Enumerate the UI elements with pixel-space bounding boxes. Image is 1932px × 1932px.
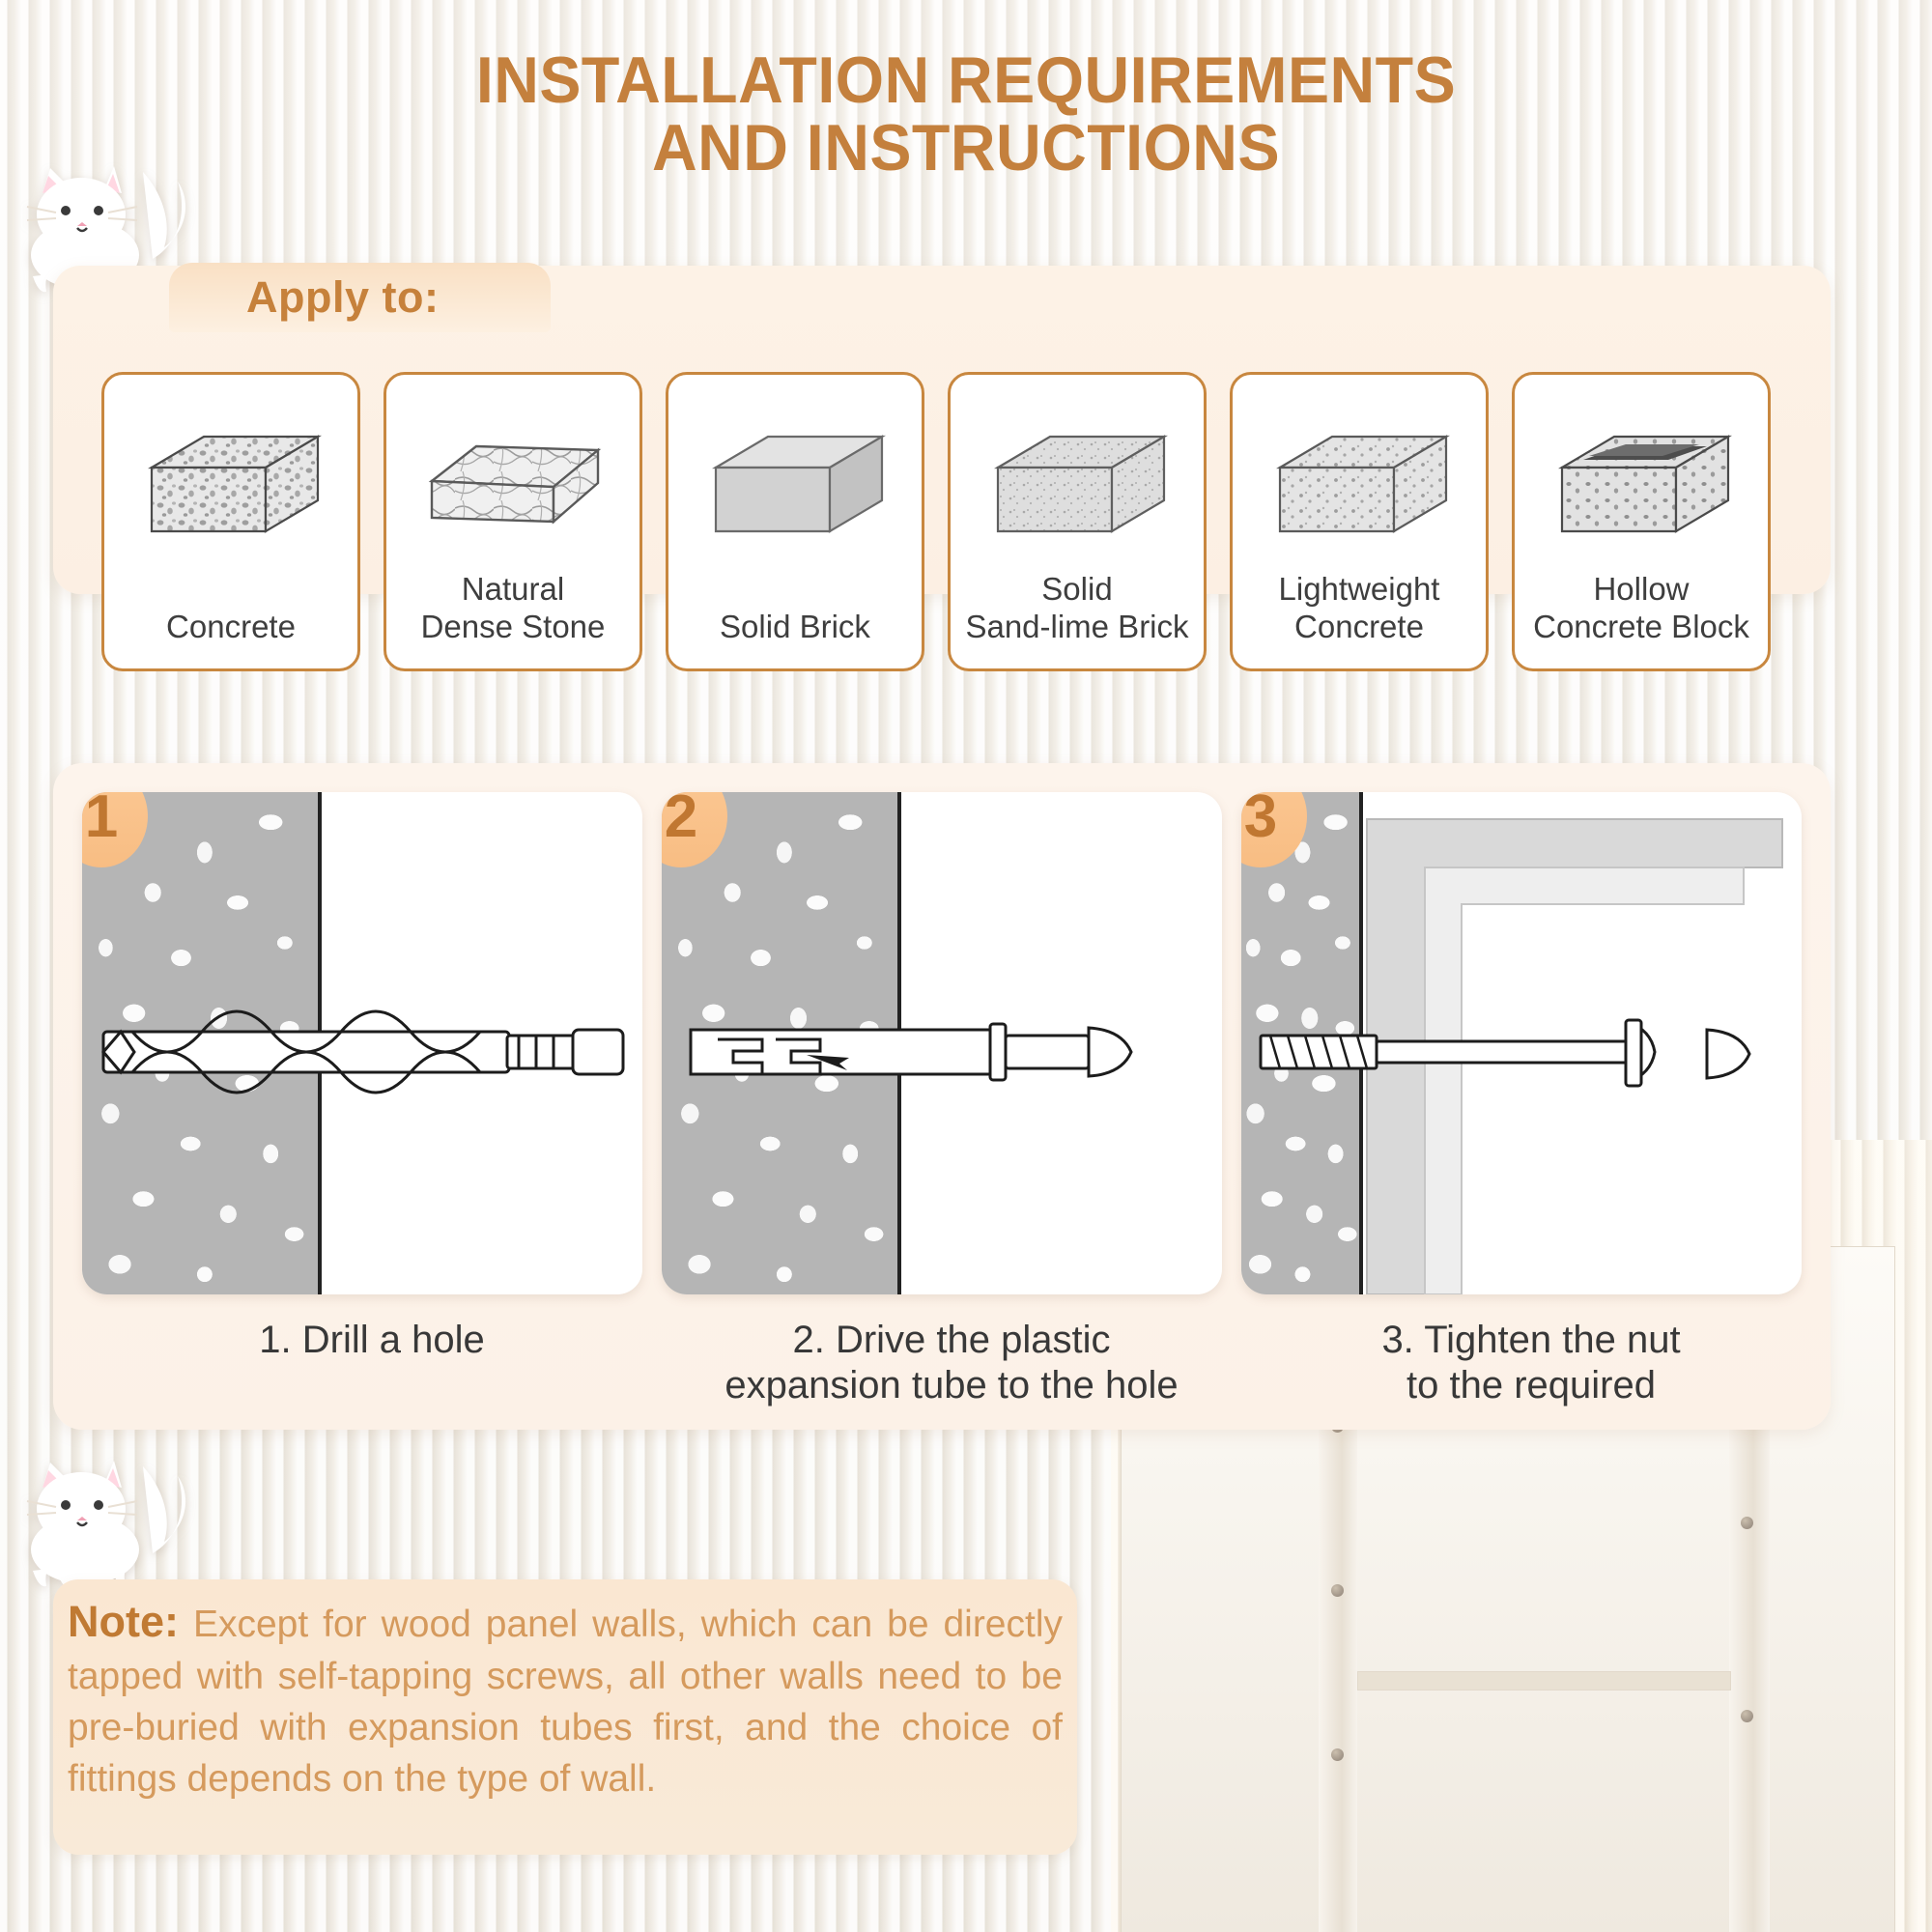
lightweight-block-icon <box>1263 413 1456 558</box>
material-label: Concrete <box>160 609 301 645</box>
material-card-solid-brick[interactable]: Solid Brick <box>666 372 924 671</box>
note-lead: Note: <box>68 1597 179 1646</box>
drill-bit-in-wall-icon <box>82 792 642 1294</box>
apply-to-label: Apply to: <box>246 275 439 319</box>
material-card-solid-sand-lime-brick[interactable]: SolidSand-lime Brick <box>948 372 1207 671</box>
material-card-concrete[interactable]: Concrete <box>101 372 360 671</box>
material-label: NaturalDense Stone <box>415 571 611 645</box>
hollow-block-icon <box>1545 413 1738 558</box>
expansion-tube-icon <box>662 792 1222 1294</box>
material-card-row: Concrete NaturalDense Stone Solid Brick <box>101 372 1771 671</box>
step-1-illustration-panel: 1 <box>82 792 642 1294</box>
step-1: 1 1. Drill a hole <box>82 792 662 1363</box>
material-label: SolidSand-lime Brick <box>959 571 1194 645</box>
material-card-hollow-concrete-block[interactable]: HollowConcrete Block <box>1512 372 1771 671</box>
material-label: LightweightConcrete <box>1273 571 1446 645</box>
step-1-caption: 1. Drill a hole <box>82 1318 662 1363</box>
solid-brick-icon <box>698 413 892 558</box>
step-3: 3 3. Tighten the nutto the required <box>1241 792 1821 1408</box>
step-3-illustration-panel: 3 <box>1241 792 1802 1294</box>
note-text: Except for wood panel walls, which can b… <box>68 1604 1063 1800</box>
cat-mascot-bottom <box>17 1449 196 1594</box>
stone-slab-icon <box>416 413 610 558</box>
concrete-block-icon <box>134 413 327 558</box>
note-body: Note: Except for wood panel walls, which… <box>68 1592 1063 1804</box>
screw-bracket-icon <box>1241 792 1802 1294</box>
step-3-caption: 3. Tighten the nutto the required <box>1241 1318 1821 1408</box>
sand-lime-brick-icon <box>980 413 1174 558</box>
page-title-line2: AND INSTRUCTIONS <box>48 114 1884 182</box>
material-card-lightweight-concrete[interactable]: LightweightConcrete <box>1230 372 1489 671</box>
page-title: INSTALLATION REQUIREMENTS AND INSTRUCTIO… <box>48 46 1884 182</box>
material-label: HollowConcrete Block <box>1527 571 1755 645</box>
page-title-line1: INSTALLATION REQUIREMENTS <box>476 43 1456 117</box>
material-label: Solid Brick <box>714 609 876 645</box>
step-2-caption: 2. Drive the plasticexpansion tube to th… <box>662 1318 1241 1408</box>
material-card-natural-dense-stone[interactable]: NaturalDense Stone <box>384 372 642 671</box>
step-2: 2 2. Drive the plasticexpansion tube to … <box>662 792 1241 1408</box>
step-2-illustration-panel: 2 <box>662 792 1222 1294</box>
